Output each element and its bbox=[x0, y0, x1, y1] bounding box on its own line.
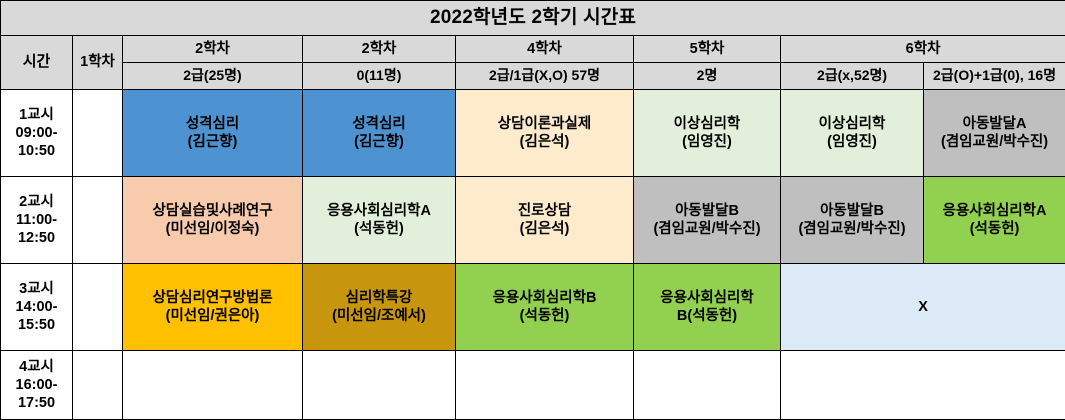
table-row: 4교시 16:00- 17:50 bbox=[1, 351, 1065, 420]
header-sub-5: 2명 bbox=[634, 63, 781, 90]
class-cell-unavailable[interactable]: X bbox=[781, 264, 1065, 351]
header-sub-row: 2급(25명) 0(11명) 2급/1급(X,O) 57명 2명 2급(x,52… bbox=[1, 63, 1065, 90]
class-cell[interactable] bbox=[73, 264, 123, 351]
header-group-1: 1학차 bbox=[73, 36, 123, 90]
header-group-5: 5학차 bbox=[634, 36, 781, 63]
class-cell[interactable]: 상담이론과실제 (김은석) bbox=[456, 90, 634, 177]
header-sub-4: 2급/1급(X,O) 57명 bbox=[456, 63, 634, 90]
class-cell[interactable]: 아동발달B (겸임교원/박수진) bbox=[781, 177, 924, 264]
class-cell[interactable] bbox=[73, 177, 123, 264]
class-cell[interactable] bbox=[634, 351, 781, 420]
header-group-2: 2학차 bbox=[123, 36, 303, 63]
header-sub-3: 0(11명) bbox=[303, 63, 456, 90]
timetable: 2022학년도 2학기 시간표 시간 1학차 2학차 2학차 4학차 5학차 6… bbox=[0, 0, 1065, 420]
period-label: 1교시 09:00- 10:50 bbox=[1, 90, 73, 177]
class-cell[interactable] bbox=[123, 351, 303, 420]
class-cell[interactable]: 상담실습및사례연구 (미선임/이정숙) bbox=[123, 177, 303, 264]
class-cell[interactable]: 이상심리학 (임영진) bbox=[634, 90, 781, 177]
class-cell[interactable]: 응용사회심리학B (석동헌) bbox=[456, 264, 634, 351]
class-cell[interactable] bbox=[73, 90, 123, 177]
class-cell[interactable] bbox=[456, 351, 634, 420]
class-cell[interactable] bbox=[781, 351, 1065, 420]
header-time-label: 시간 bbox=[1, 36, 73, 90]
period-label: 4교시 16:00- 17:50 bbox=[1, 351, 73, 420]
class-cell[interactable]: 상담심리연구방법론 (미선임/권은아) bbox=[123, 264, 303, 351]
class-cell[interactable] bbox=[303, 351, 456, 420]
period-label: 3교시 14:00- 15:50 bbox=[1, 264, 73, 351]
class-cell[interactable]: 진로상담 (김은석) bbox=[456, 177, 634, 264]
class-cell[interactable]: 이상심리학 (임영진) bbox=[781, 90, 924, 177]
class-cell[interactable]: 응용사회심리학A (석동헌) bbox=[924, 177, 1065, 264]
class-cell[interactable]: 아동발달B (겸임교원/박수진) bbox=[634, 177, 781, 264]
class-cell[interactable]: 성격심리 (김근향) bbox=[123, 90, 303, 177]
class-cell[interactable]: 응용사회심리학A (석동헌) bbox=[303, 177, 456, 264]
header-group-4: 4학차 bbox=[456, 36, 634, 63]
class-cell[interactable]: 응용사회심리학 B(석동헌) bbox=[634, 264, 781, 351]
title-row: 2022학년도 2학기 시간표 bbox=[1, 1, 1065, 36]
class-cell[interactable]: 심리학특강 (미선임/조예서) bbox=[303, 264, 456, 351]
page-title: 2022학년도 2학기 시간표 bbox=[1, 1, 1065, 36]
table-row: 2교시 11:00- 12:50 상담실습및사례연구 (미선임/이정숙) 응용사… bbox=[1, 177, 1065, 264]
class-cell[interactable]: 성격심리 (김근향) bbox=[303, 90, 456, 177]
table-row: 3교시 14:00- 15:50 상담심리연구방법론 (미선임/권은아) 심리학… bbox=[1, 264, 1065, 351]
table-row: 1교시 09:00- 10:50 성격심리 (김근향) 성격심리 (김근향) 상… bbox=[1, 90, 1065, 177]
header-group-6: 6학차 bbox=[781, 36, 1065, 63]
header-sub-6: 2급(x,52명) bbox=[781, 63, 924, 90]
header-sub-7: 2급(O)+1급(0), 16명 bbox=[924, 63, 1065, 90]
header-group-row: 시간 1학차 2학차 2학차 4학차 5학차 6학차 bbox=[1, 36, 1065, 63]
header-sub-2: 2급(25명) bbox=[123, 63, 303, 90]
class-cell[interactable] bbox=[73, 351, 123, 420]
header-group-3: 2학차 bbox=[303, 36, 456, 63]
class-cell[interactable]: 아동발달A (겸임교원/박수진) bbox=[924, 90, 1065, 177]
period-label: 2교시 11:00- 12:50 bbox=[1, 177, 73, 264]
timetable-sheet: 2022학년도 2학기 시간표 시간 1학차 2학차 2학차 4학차 5학차 6… bbox=[0, 0, 1065, 401]
